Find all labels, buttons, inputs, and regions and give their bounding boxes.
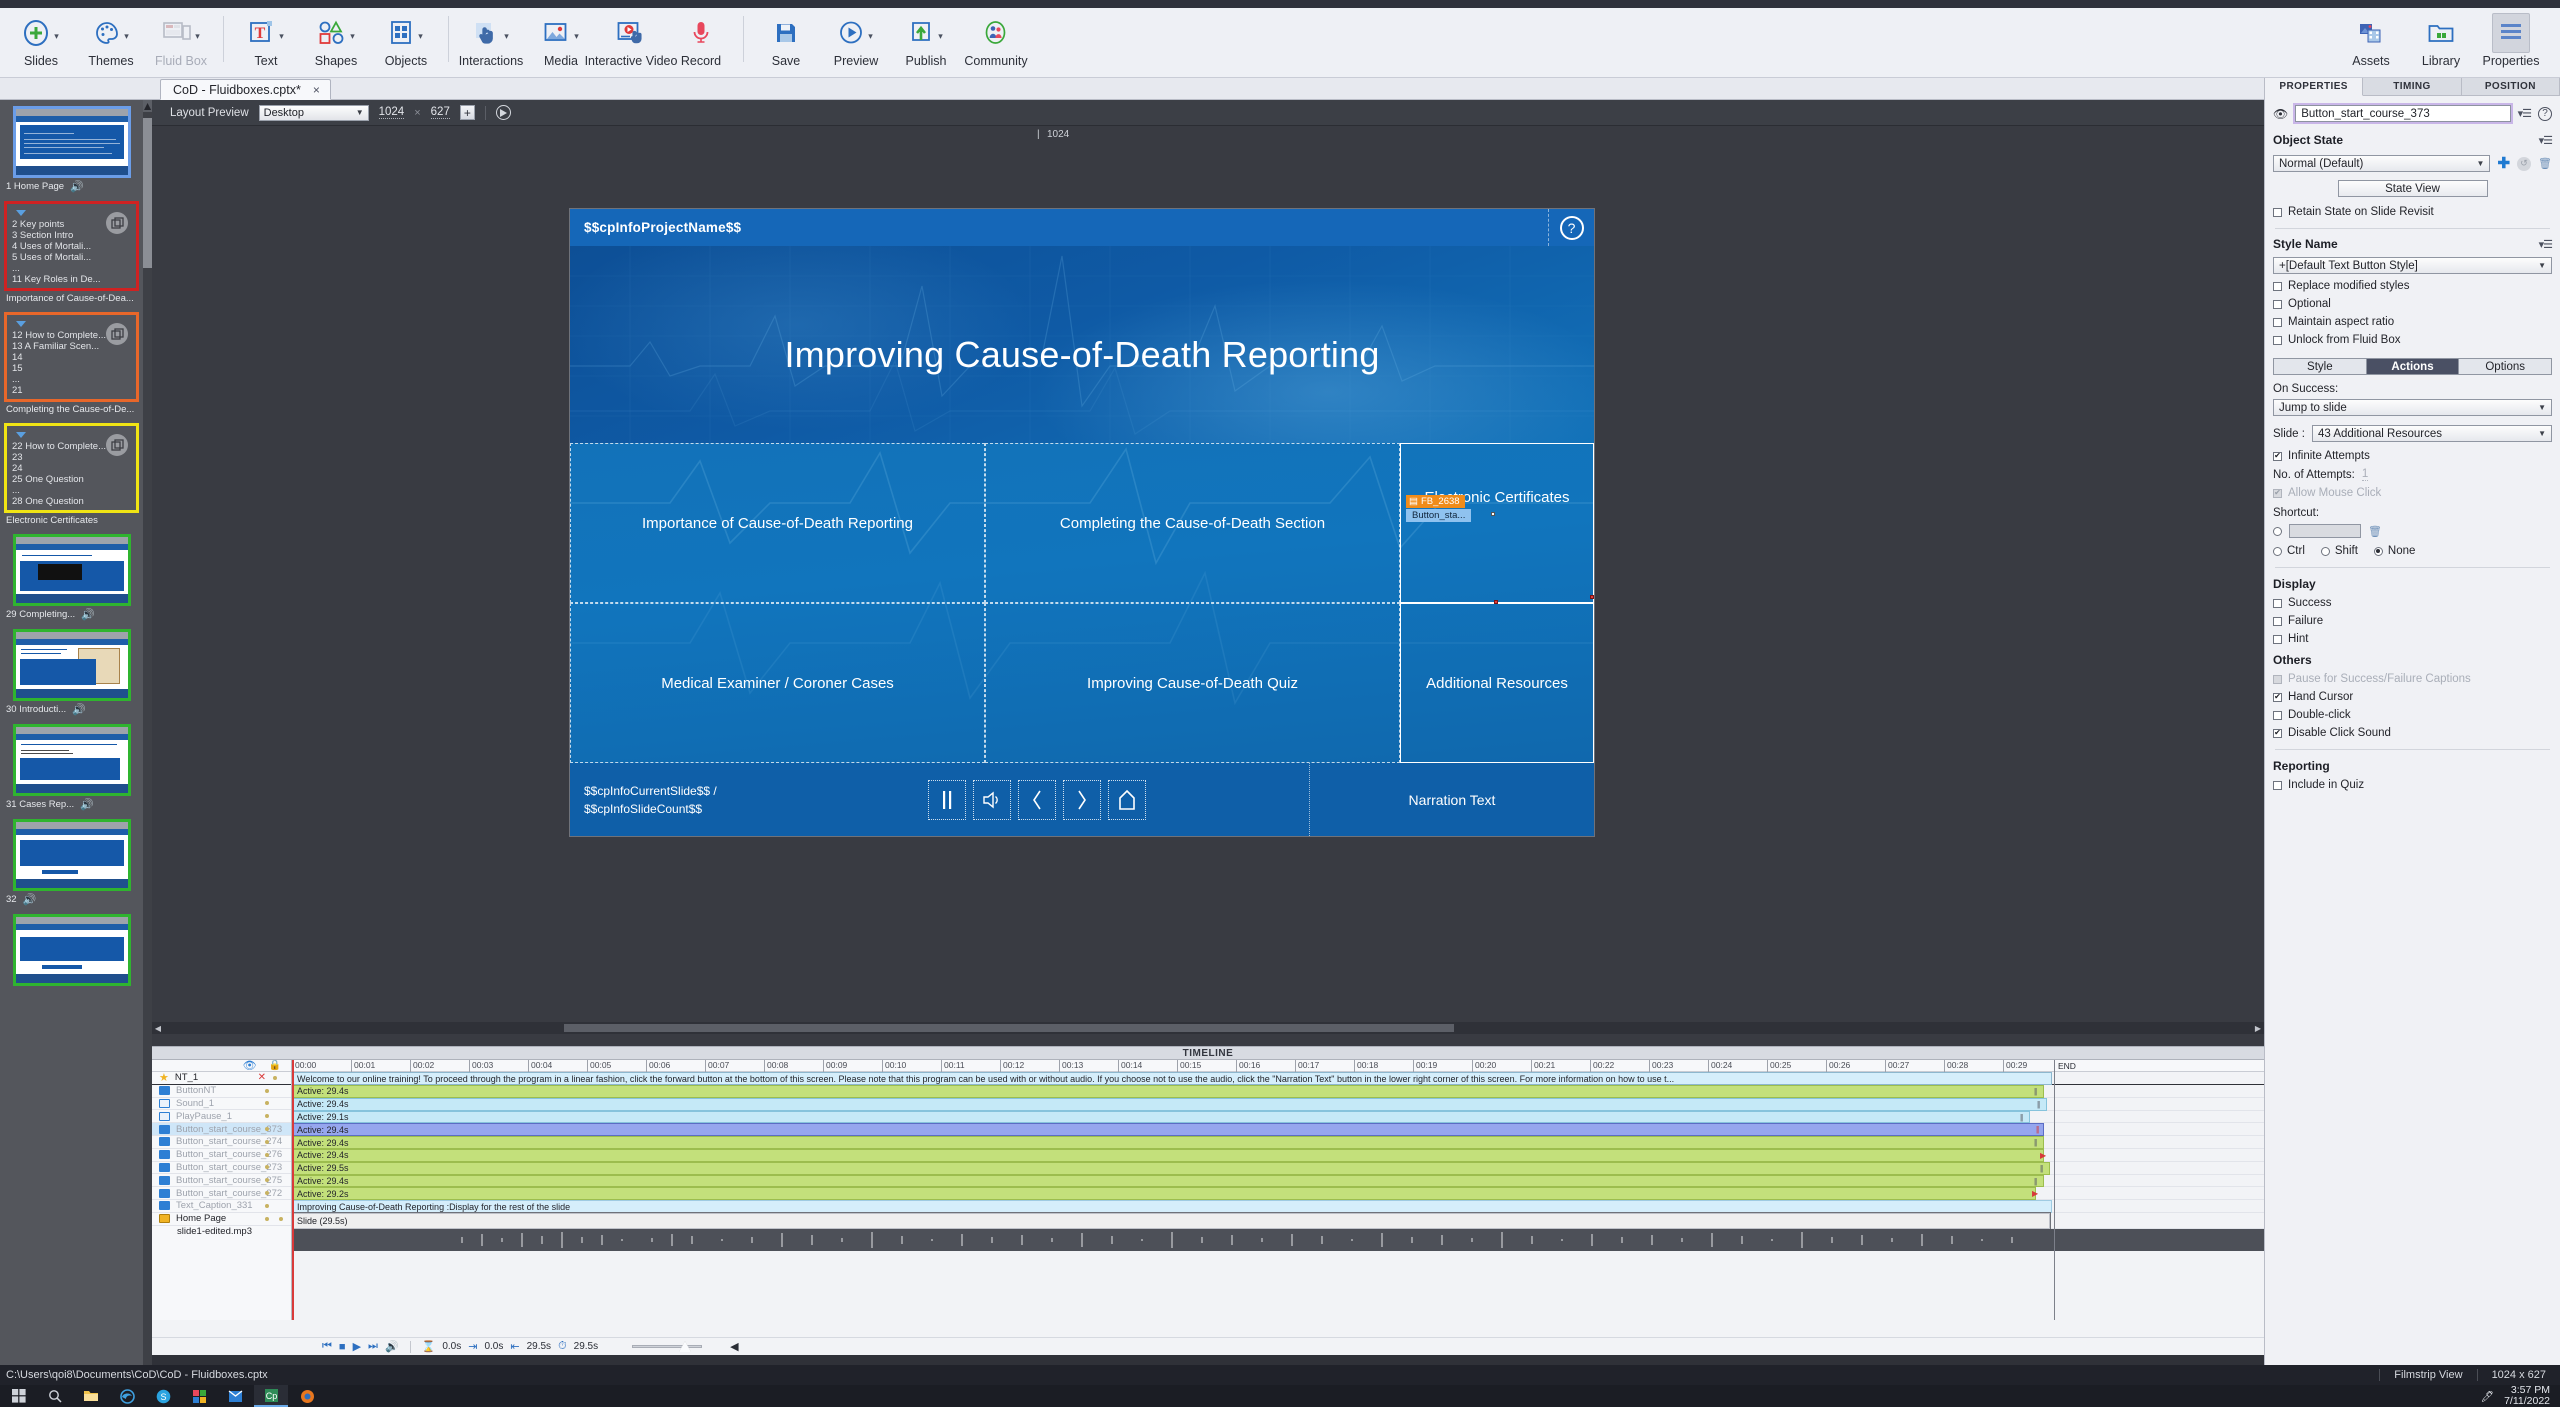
timeline-panel[interactable]: 👁 🔒 ★ NT_1 ✕ ButtonNT Sound_1 PlayPause_…: [152, 1060, 2264, 1365]
group-line: 25 One Question: [12, 474, 131, 485]
eye-visibility-icon[interactable]: 👁: [2273, 107, 2288, 121]
slide-thumbnail[interactable]: [13, 534, 131, 606]
microphone-icon: [690, 13, 712, 53]
outlook-icon[interactable]: [218, 1385, 252, 1407]
timeline-horizontal-scrollbar[interactable]: [152, 1355, 2264, 1365]
chevron-down-icon[interactable]: ▾: [938, 25, 943, 42]
slide-stage[interactable]: $$cpInfoProjectName$$ ?: [152, 144, 2264, 1034]
fluidbox-tag-label: FB_2638: [1421, 496, 1460, 507]
search-icon[interactable]: [38, 1385, 72, 1407]
filmstrip-slide-1[interactable]: 1 Home Page 🔊: [0, 100, 143, 195]
none-radio[interactable]: [2374, 547, 2383, 556]
bar-handle[interactable]: ▶: [2040, 1151, 2263, 1160]
toolbar-right-group: Assets Library Properties: [2336, 8, 2560, 76]
disable-click-sound-row[interactable]: Disable Click Sound: [2265, 727, 2560, 739]
pause-captions-checkbox: [2273, 675, 2282, 684]
window-titlebar: [0, 0, 2560, 8]
zoom-slider-handle[interactable]: [679, 1341, 691, 1352]
track-name-nt1[interactable]: ★ NT_1 ✕: [152, 1072, 291, 1085]
ruler-tick: 00:27: [1885, 1060, 1909, 1072]
scrollbar-thumb[interactable]: [143, 118, 152, 268]
slide-group[interactable]: 22 How to Complete... 23 24 25 One Quest…: [4, 423, 139, 513]
group-line: 28 One Question: [12, 496, 131, 507]
pause-button[interactable]: [928, 780, 966, 820]
lock-dot[interactable]: [273, 1076, 277, 1080]
bar-handle[interactable]: ||: [2036, 1125, 2263, 1134]
hint-label: Hint: [2288, 633, 2308, 645]
group-line: 11 Key Roles in De...: [12, 274, 131, 285]
include-in-quiz-checkbox[interactable]: [2273, 781, 2282, 790]
lock-dot[interactable]: [265, 1114, 269, 1118]
timeline-zoom-slider[interactable]: [632, 1345, 702, 1348]
star-icon: ★: [159, 1071, 169, 1084]
selection-handle[interactable]: [1494, 600, 1498, 604]
properties-tabs: PROPERTIES TIMING POSITION: [2265, 78, 2560, 96]
nav-cell-additional-resources[interactable]: Additional Resources: [1400, 603, 1594, 763]
track-name-text-caption-331[interactable]: Text_Caption_331: [152, 1200, 291, 1213]
next-button[interactable]: [1063, 780, 1101, 820]
project-dimensions: 1024 x 627: [2477, 1369, 2560, 1381]
timeline-bar[interactable]: Active: 29.4s: [292, 1175, 2044, 1188]
folder-explorer-icon[interactable]: [74, 1385, 108, 1407]
bar-handle[interactable]: ||: [2034, 1138, 2263, 1147]
display-success-row[interactable]: Success: [2265, 597, 2560, 609]
segment-options[interactable]: Options: [2458, 358, 2552, 375]
filmstrip-group-completing[interactable]: 12 How to Complete... 13 A Familiar Scen…: [0, 306, 143, 417]
nav-cell-completing[interactable]: Completing the Cause-of-Death Section: [985, 443, 1400, 603]
display-hint-row[interactable]: Hint: [2265, 633, 2560, 645]
allow-mouse-click-row: Allow Mouse Click: [2265, 487, 2560, 499]
timeline-row-text-caption[interactable]: Improving Cause-of-Death Reporting :Disp…: [292, 1200, 2264, 1213]
go-to-end-button[interactable]: ⏭: [368, 1340, 378, 1353]
ruler-tick: 00:18: [1354, 1060, 1378, 1072]
timeline-row-button-274[interactable]: Active: 29.4s||: [292, 1136, 2264, 1149]
toolbar-shapes[interactable]: ▾ Shapes: [301, 8, 371, 76]
timeline-row-buttonnt[interactable]: Active: 29.4s||: [292, 1085, 2264, 1098]
track-label: NT_1: [175, 1072, 198, 1083]
toolbar-left-group: ▾ Slides ▾ Themes ▾ Fluid Box: [0, 8, 1031, 76]
timeline-bar[interactable]: Active: 29.4s: [292, 1149, 2044, 1162]
ruler-tick: 00:16: [1236, 1060, 1260, 1072]
speaker-icon: 🔊: [70, 180, 84, 193]
scroll-left-icon[interactable]: ◀: [152, 1022, 164, 1034]
add-state-button[interactable]: ✚: [2497, 156, 2510, 171]
narration-text-button[interactable]: Narration Text: [1309, 763, 1594, 836]
double-click-row[interactable]: Double-click: [2265, 709, 2560, 721]
hint-checkbox[interactable]: [2273, 635, 2282, 644]
object-state-select[interactable]: Normal (Default) ▼: [2273, 155, 2490, 172]
options-menu-icon[interactable]: ▾☰: [2518, 107, 2531, 120]
stop-button[interactable]: ■: [339, 1341, 346, 1353]
state-view-button[interactable]: State View: [2338, 180, 2488, 197]
toolbar-publish-label: Publish: [906, 54, 947, 68]
lock-dot[interactable]: [279, 1217, 283, 1221]
timeline-row-button-275[interactable]: Active: 29.4s||: [292, 1175, 2264, 1188]
nav-cell-quiz[interactable]: Improving Cause-of-Death Quiz: [985, 603, 1400, 763]
timeline-row-slide[interactable]: Slide (29.5s): [292, 1213, 2264, 1229]
device-select[interactable]: Desktop ▼: [259, 105, 369, 121]
attempts-label: No. of Attempts:: [2273, 469, 2355, 481]
timeline-bar-selected[interactable]: Active: 29.4s: [292, 1123, 2044, 1136]
retain-state-checkbox[interactable]: [2273, 208, 2282, 217]
button-icon: [159, 1163, 170, 1172]
captivate-icon[interactable]: Cp: [254, 1385, 288, 1407]
button-icon: [159, 1086, 170, 1095]
timeline-row-button-273[interactable]: Active: 29.5s||: [292, 1162, 2264, 1175]
toolbar-divider: [448, 16, 449, 62]
track-name-button-start-course-272[interactable]: Button_start_course_272: [152, 1187, 291, 1200]
optional-row[interactable]: Optional: [2265, 298, 2560, 310]
filmstrip-scrollbar[interactable]: ▲: [143, 100, 152, 1365]
disable-click-sound-checkbox[interactable]: [2273, 729, 2282, 738]
slide-thumbnail[interactable]: [13, 106, 131, 178]
skype-icon[interactable]: S: [146, 1385, 180, 1407]
unlock-from-fluid-box-checkbox[interactable]: [2273, 336, 2282, 345]
filmstrip-panel[interactable]: 1 Home Page 🔊 2 Key points 3 Section Int…: [0, 100, 152, 1365]
timeline-row-playpause1[interactable]: Active: 29.1s||: [292, 1111, 2264, 1124]
view-mode-label[interactable]: Filmstrip View: [2379, 1369, 2476, 1381]
maintain-aspect-ratio-checkbox[interactable]: [2273, 318, 2282, 327]
chevron-down-icon[interactable]: ▼: [2538, 261, 2546, 270]
replace-modified-styles-row[interactable]: Replace modified styles: [2265, 280, 2560, 292]
track-name-home-page[interactable]: Home Page: [152, 1213, 291, 1226]
previous-button[interactable]: [1018, 780, 1056, 820]
tab-timing[interactable]: TIMING: [2363, 78, 2461, 96]
bar-handle[interactable]: ||: [2034, 1087, 2263, 1096]
segment-style[interactable]: Style: [2273, 358, 2366, 375]
add-breakpoint-button[interactable]: +: [460, 105, 475, 120]
slide-canvas[interactable]: $$cpInfoProjectName$$ ?: [570, 209, 1594, 836]
toolbar-themes[interactable]: ▾ Themes: [76, 8, 146, 76]
track-name-button-start-course-274[interactable]: Button_start_course_274: [152, 1136, 291, 1149]
bar-handle[interactable]: ▶: [2032, 1189, 2263, 1198]
shapes-icon: ▾: [317, 13, 355, 53]
office-icon[interactable]: [182, 1385, 216, 1407]
timeline-bar[interactable]: Active: 29.4s: [292, 1136, 2044, 1149]
toolbar-library[interactable]: Library: [2406, 8, 2476, 76]
filmstrip-list: 1 Home Page 🔊 2 Key points 3 Section Int…: [0, 100, 143, 988]
track-name-button-start-course-276[interactable]: Button_start_course_276: [152, 1149, 291, 1162]
counter-line-1: $$cpInfoCurrentSlide$$ /: [584, 782, 765, 800]
replace-modified-styles-label: Replace modified styles: [2288, 280, 2409, 292]
include-in-quiz-label: Include in Quiz: [2288, 779, 2364, 791]
chevron-down-icon[interactable]: ▾: [54, 25, 59, 42]
scroll-track[interactable]: [164, 1024, 2252, 1032]
button-icon: [159, 1137, 170, 1146]
pen-icon[interactable]: 🖊: [2481, 1390, 2494, 1403]
replace-modified-styles-checkbox[interactable]: [2273, 282, 2282, 291]
fluidbox-icon: ▾: [162, 13, 200, 53]
chevron-down-icon[interactable]: ▾: [279, 25, 284, 42]
help-icon[interactable]: ?: [1560, 216, 1584, 240]
lock-dot[interactable]: [265, 1101, 269, 1105]
timeline-playhead[interactable]: [292, 1060, 294, 1320]
ruler-tick: 00:05: [587, 1060, 611, 1072]
object-name-input[interactable]: Button_start_course_373: [2295, 105, 2510, 122]
preview-play-icon[interactable]: [496, 105, 511, 120]
infinite-attempts-row[interactable]: Infinite Attempts: [2265, 450, 2560, 462]
chevron-down-icon[interactable]: ▾: [124, 25, 129, 42]
slide-icon: [159, 1214, 170, 1223]
timeline-bar[interactable]: Active: 29.5s: [292, 1162, 2050, 1175]
bar-handle[interactable]: ||: [2040, 1164, 2263, 1173]
toolbar-divider: [223, 16, 224, 62]
attempts-value[interactable]: 1: [2362, 468, 2368, 481]
timeline-tracks-area[interactable]: 00:00 00:01 00:02 00:03 00:04 00:05 00:0…: [292, 1060, 2264, 1320]
svg-text:T: T: [255, 25, 266, 42]
infinite-attempts-checkbox[interactable]: [2273, 452, 2282, 461]
slide-value: 43 Additional Resources: [2318, 428, 2442, 440]
toolbar-preview[interactable]: ▾ Preview: [821, 8, 891, 76]
toolbar-properties-label: Properties: [2483, 54, 2540, 68]
clock-date: 7/11/2022: [2504, 1396, 2550, 1407]
slide-thumbnail[interactable]: [13, 629, 131, 701]
ruler-tick: 00:20: [1472, 1060, 1496, 1072]
tab-position[interactable]: POSITION: [2462, 78, 2560, 96]
chevron-down-icon[interactable]: ▼: [2538, 429, 2546, 438]
display-failure-row[interactable]: Failure: [2265, 615, 2560, 627]
windows-start-icon[interactable]: [2, 1385, 36, 1407]
expand-triangle-icon[interactable]: [16, 210, 26, 216]
slide-group[interactable]: 12 How to Complete... 13 A Familiar Scen…: [4, 312, 139, 402]
track-name-button-start-course-273[interactable]: Button_start_course_273: [152, 1162, 291, 1175]
failure-label: Failure: [2288, 615, 2323, 627]
success-label: Success: [2288, 597, 2331, 609]
timeline-row-nt1[interactable]: Welcome to our online training! To proce…: [292, 1072, 2264, 1085]
attempts-row: No. of Attempts: 1: [2265, 468, 2560, 481]
filmstrip-group-certificates[interactable]: 22 How to Complete... 23 24 25 One Quest…: [0, 417, 143, 528]
toolbar-community[interactable]: Community: [961, 8, 1031, 76]
ruler-tick: 00:22: [1590, 1060, 1614, 1072]
slide-group[interactable]: 2 Key points 3 Section Intro 4 Uses of M…: [4, 201, 139, 291]
slide-select[interactable]: 43 Additional Resources ▼: [2312, 425, 2552, 442]
unlock-from-fluid-box-row[interactable]: Unlock from Fluid Box: [2265, 334, 2560, 346]
firefox-icon[interactable]: [290, 1385, 324, 1407]
ruler-tick: 00:03: [469, 1060, 493, 1072]
maintain-aspect-ratio-label: Maintain aspect ratio: [2288, 316, 2394, 328]
help-fluidbox[interactable]: ?: [1548, 209, 1594, 246]
clear-shortcut-icon[interactable]: 🗑: [2368, 525, 2382, 538]
filmstrip-slide-33[interactable]: [0, 908, 143, 988]
failure-checkbox[interactable]: [2273, 617, 2282, 626]
button-icon: [159, 1125, 170, 1134]
timeline-row-sound1[interactable]: Active: 29.4s||: [292, 1098, 2264, 1111]
timeline-bar[interactable]: Active: 29.2s: [292, 1187, 2036, 1200]
scroll-left-icon[interactable]: ◀: [730, 1340, 738, 1353]
segment-actions[interactable]: Actions: [2366, 358, 2459, 375]
audio-button[interactable]: [973, 780, 1011, 820]
home-button[interactable]: [1108, 780, 1146, 820]
bar-handle[interactable]: ||: [2037, 1100, 2263, 1109]
timeline-ruler[interactable]: 00:00 00:01 00:02 00:03 00:04 00:05 00:0…: [292, 1060, 2264, 1072]
timeline-bar[interactable]: Active: 29.4s: [292, 1085, 2044, 1098]
style-name-select[interactable]: +[Default Text Button Style] ▼: [2273, 257, 2552, 274]
selection-end-value: 29.5s: [527, 1341, 551, 1352]
canvas-ruler: | 1024: [152, 126, 2264, 144]
filmstrip-slide-31[interactable]: 31 Cases Rep... 🔊: [0, 718, 143, 813]
toolbar-slides-label: Slides: [24, 54, 58, 68]
optional-checkbox[interactable]: [2273, 300, 2282, 309]
ctrl-radio[interactable]: [2273, 547, 2282, 556]
layout-height-input[interactable]: 627: [431, 106, 450, 119]
track-name-audio-file[interactable]: slide1-edited.mp3: [152, 1226, 291, 1239]
others-heading: Others: [2265, 653, 2560, 667]
selection-handle[interactable]: [1491, 512, 1495, 516]
eye-visibility-icon[interactable]: 👁: [243, 1060, 257, 1072]
toolbar-slides[interactable]: ▾ Slides: [6, 8, 76, 76]
chevron-down-icon[interactable]: ▾: [574, 25, 579, 42]
selection-handle[interactable]: [1590, 595, 1594, 599]
layout-preview-bar: Layout Preview Desktop ▼ 1024 × 627 +: [152, 100, 2264, 126]
group-stack-icon: [106, 212, 128, 234]
include-in-quiz-row[interactable]: Include in Quiz: [2265, 779, 2560, 791]
maintain-aspect-ratio-row[interactable]: Maintain aspect ratio: [2265, 316, 2560, 328]
lock-dot[interactable]: [265, 1217, 269, 1221]
lock-dot[interactable]: [265, 1153, 269, 1157]
windows-taskbar: S Cp 🖊 3:57 PM 7/11/2022: [0, 1385, 2560, 1407]
group-stack-icon: [106, 323, 128, 345]
filmstrip-group-importance[interactable]: 2 Key points 3 Section Intro 4 Uses of M…: [0, 195, 143, 306]
toolbar-interactive-video[interactable]: Interactive Video: [596, 8, 666, 76]
chevron-down-icon: ▾: [195, 25, 200, 42]
bar-handle[interactable]: ||: [2020, 1113, 2263, 1122]
filmstrip-slide-32[interactable]: 32 🔊: [0, 813, 143, 908]
shortcut-input[interactable]: [2289, 524, 2361, 538]
audio-waveform[interactable]: [292, 1229, 2264, 1251]
speaker-icon[interactable]: 🔊: [385, 1340, 399, 1353]
timeline-header: TIMELINE: [152, 1046, 2264, 1060]
track-name-button-start-course-275[interactable]: Button_start_course_275: [152, 1174, 291, 1187]
hand-cursor-row[interactable]: Hand Cursor: [2265, 691, 2560, 703]
toolbar-objects[interactable]: ▾ Objects: [371, 8, 441, 76]
filmstrip-caption: Importance of Cause-of-Dea...: [0, 291, 143, 304]
scroll-right-icon[interactable]: ▶: [2252, 1022, 2264, 1034]
object-state-value: Normal (Default): [2279, 158, 2363, 170]
toolbar-interactions[interactable]: ▾ Interactions: [456, 8, 526, 76]
toolbar-assets[interactable]: Assets: [2336, 8, 2406, 76]
slide-thumbnail[interactable]: [13, 914, 131, 986]
go-to-start-button[interactable]: ⏮: [322, 1340, 332, 1353]
on-success-select[interactable]: Jump to slide ▼: [2273, 399, 2552, 416]
chevron-down-icon[interactable]: ▾: [868, 25, 873, 42]
toolbar-text[interactable]: T ▾ Text: [231, 8, 301, 76]
scrollbar-thumb[interactable]: [564, 1024, 1454, 1032]
shift-radio[interactable]: [2321, 547, 2330, 556]
toolbar-media-label: Media: [544, 54, 578, 68]
toolbar-text-label: Text: [255, 54, 278, 68]
track-name-buttonnt[interactable]: ButtonNT: [152, 1085, 291, 1098]
timeline-bar[interactable]: Active: 29.4s: [292, 1098, 2047, 1111]
close-icon[interactable]: ×: [313, 83, 320, 97]
button-icon: [159, 1150, 170, 1159]
shortcut-radio[interactable]: [2273, 527, 2282, 536]
allow-mouse-click-label: Allow Mouse Click: [2288, 487, 2381, 499]
document-tab[interactable]: CoD - Fluidboxes.cptx* ×: [160, 79, 331, 100]
timeline-row-button-373[interactable]: Active: 29.4s||: [292, 1123, 2264, 1136]
toolbar-publish[interactable]: ▾ Publish: [891, 8, 961, 76]
delete-state-icon[interactable]: 🗑: [2538, 157, 2552, 170]
group-line: ...: [12, 374, 131, 385]
double-click-label: Double-click: [2288, 709, 2351, 721]
fluidbox-tag[interactable]: ▤ FB_2638: [1406, 495, 1465, 508]
stage-horizontal-scrollbar[interactable]: ◀ ▶: [152, 1022, 2264, 1034]
clock[interactable]: 3:57 PM 7/11/2022: [2504, 1385, 2550, 1407]
help-icon[interactable]: ?: [2538, 107, 2552, 121]
options-menu-icon[interactable]: ▾☰: [2539, 134, 2552, 147]
track-name-button-start-course-373[interactable]: Button_start_course_373: [152, 1123, 291, 1136]
ruler-mark-1024: |: [1037, 129, 1040, 140]
chevron-down-icon[interactable]: ▾: [504, 25, 509, 42]
success-checkbox[interactable]: [2273, 599, 2282, 608]
nav-cell-importance[interactable]: Importance of Cause-of-Death Reporting: [570, 443, 985, 603]
ruler-tick: 00:11: [941, 1060, 965, 1072]
lock-dot[interactable]: [265, 1140, 269, 1144]
timeline-bar[interactable]: Improving Cause-of-Death Reporting :Disp…: [292, 1200, 2052, 1213]
timeline-row-button-272[interactable]: Active: 29.2s▶: [292, 1187, 2264, 1200]
slide-thumbnail[interactable]: [13, 724, 131, 796]
slide-thumbnail[interactable]: [13, 819, 131, 891]
expand-triangle-icon[interactable]: [16, 321, 26, 327]
track-name-playpause1[interactable]: PlayPause_1: [152, 1110, 291, 1123]
scroll-up-icon[interactable]: ▲: [143, 100, 152, 112]
playhead-time-icon: ⌛: [422, 1340, 436, 1353]
toolbar-properties[interactable]: Properties: [2476, 8, 2546, 76]
navigation-grid: Importance of Cause-of-Death Reporting C…: [570, 443, 1594, 763]
play-button[interactable]: ▶: [353, 1340, 361, 1353]
lock-icon[interactable]: 🔒: [269, 1060, 281, 1071]
slide-header-bar[interactable]: $$cpInfoProjectName$$ ?: [570, 209, 1594, 246]
track-label: Sound_1: [176, 1098, 214, 1109]
toolbar-save[interactable]: Save: [751, 8, 821, 76]
expand-triangle-icon[interactable]: [16, 432, 26, 438]
tab-properties[interactable]: PROPERTIES: [2265, 78, 2363, 96]
nav-cell-medical-examiner[interactable]: Medical Examiner / Coroner Cases: [570, 603, 985, 763]
bar-handle[interactable]: ||: [2034, 1177, 2263, 1186]
device-select-value: Desktop: [264, 107, 304, 119]
lock-dot[interactable]: [265, 1089, 269, 1093]
ruler-tick: 00:04: [528, 1060, 552, 1072]
options-menu-icon[interactable]: ▾☰: [2539, 238, 2552, 251]
nav-cell-certificates[interactable]: Electronic Certificates: [1400, 443, 1594, 603]
lock-dot[interactable]: [265, 1204, 269, 1208]
filmstrip-slide-30[interactable]: 30 Introducti... 🔊: [0, 623, 143, 718]
hide-x-icon[interactable]: ✕: [258, 1072, 266, 1083]
timeline-bar[interactable]: Active: 29.1s: [292, 1111, 2030, 1124]
chevron-down-icon[interactable]: ▼: [356, 108, 364, 117]
optional-label: Optional: [2288, 298, 2331, 310]
retain-state-row[interactable]: Retain State on Slide Revisit: [2265, 206, 2560, 218]
timeline-bar[interactable]: Welcome to our online training! To proce…: [292, 1072, 2052, 1085]
timeline-bar[interactable]: Slide (29.5s): [292, 1213, 2050, 1229]
selected-object-tag[interactable]: Button_sta...: [1406, 509, 1471, 522]
track-name-sound1[interactable]: Sound_1: [152, 1098, 291, 1111]
layout-width-input[interactable]: 1024: [379, 106, 405, 119]
chevron-down-icon[interactable]: ▾: [350, 25, 355, 42]
toolbar-record[interactable]: Record: [666, 8, 736, 76]
chevron-down-icon[interactable]: ▼: [2538, 403, 2546, 412]
timeline-row-button-276[interactable]: Active: 29.4s▶: [292, 1149, 2264, 1162]
double-click-checkbox[interactable]: [2273, 711, 2282, 720]
ruler-tick: 00:06: [646, 1060, 670, 1072]
chevron-down-icon[interactable]: ▾: [418, 25, 423, 42]
speaker-icon: 🔊: [81, 608, 95, 621]
chevron-down-icon[interactable]: ▼: [2477, 159, 2485, 168]
svg-text:Cp: Cp: [265, 1391, 277, 1401]
hand-cursor-checkbox[interactable]: [2273, 693, 2282, 702]
edge-browser-icon[interactable]: [110, 1385, 144, 1407]
state-view-row: State View: [2265, 180, 2560, 197]
filmstrip-slide-29[interactable]: 29 Completing... 🔊: [0, 528, 143, 623]
